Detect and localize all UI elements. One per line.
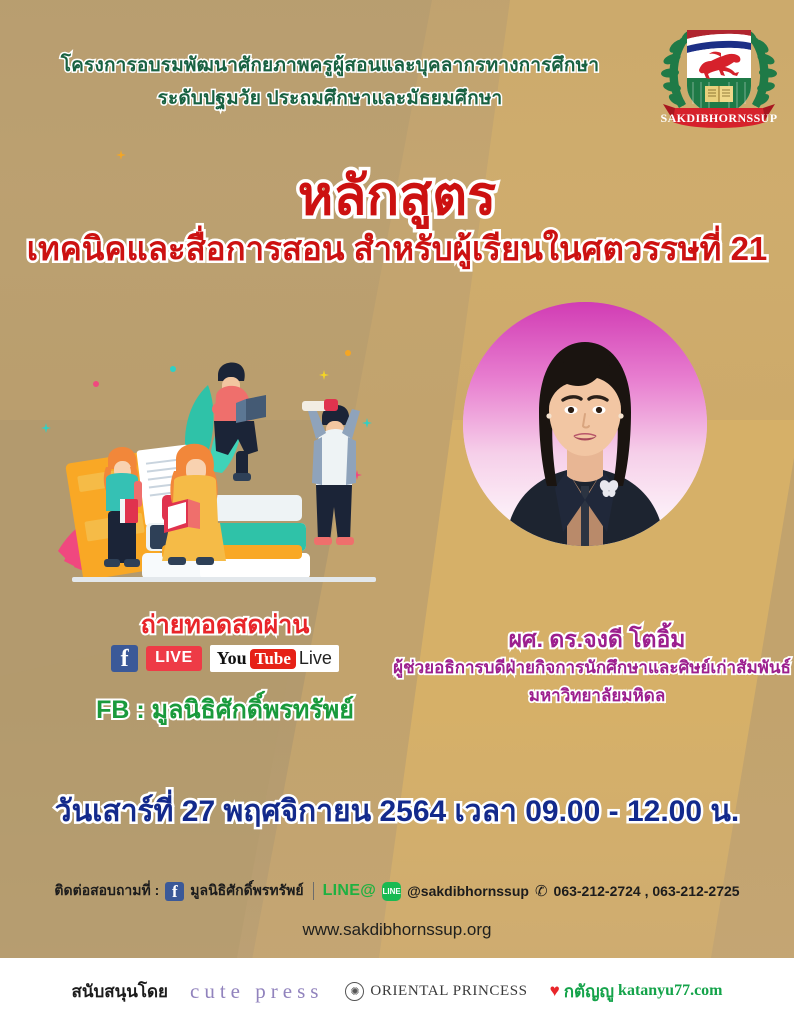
facebook-page-name[interactable]: FB : มูลนิธิศักดิ์พรทรัพย์ [60,690,390,730]
sponsor-label: สนับสนุนโดย [71,978,168,1005]
poster-canvas: โครงการอบรมพัฒนาศักยภาพครูผู้สอนและบุคลา… [0,0,794,1024]
sakdibhornssup-crest-logo: SAKDIBHORNSSUP [655,12,783,138]
katanyu-thai-label: กตัญญู [564,978,614,1005]
youtube-tube-icon: Tube [250,649,296,669]
speaker-organization: มหาวิทยาลัยมหิดล [400,682,794,709]
line-label: LINE@ [323,882,377,900]
contact-row: ติดต่อสอบถามที่ : f มูลนิธิศักดิ์พรทรัพย… [0,880,794,902]
course-subtitle: เทคนิคและสื่อการสอน สำหรับผู้เรียนในศตวร… [0,222,794,275]
sponsor-cute-press-logo: cute press [190,979,323,1004]
crest-banner-text: SAKDIBHORNSSUP [661,111,778,125]
heart-icon: ♥ [550,981,560,1001]
youtube-live-badge[interactable]: You Tube Live [210,645,339,672]
facebook-icon[interactable]: f [111,645,138,672]
speaker-portrait [463,302,707,546]
divider [313,882,314,900]
live-broadcast-heading: ถ่ายทอดสดผ่าน [60,605,390,645]
oriental-princess-label: ORIENTAL PRINCESS [370,983,527,1000]
katanyu-url: katanyu77.com [618,982,722,1000]
youtube-you-text: You [217,648,247,669]
sponsor-oriental-princess: ✺ ORIENTAL PRINCESS [345,982,527,1001]
speaker-role: ผู้ช่วยอธิการบดีฝ่ายกิจการนักศึกษาและศิษ… [390,654,794,681]
students-books-illustration [50,355,400,595]
sponsor-katanyu: ♥ กตัญญู katanyu77.com [550,978,723,1005]
phone-icon: ✆ [535,882,548,900]
contact-line-id[interactable]: @sakdibhornssup [407,883,529,899]
website-url[interactable]: www.sakdibhornssup.org [0,920,794,940]
program-title-line-1: โครงการอบรมพัฒนาศักยภาพครูผู้สอนและบุคลา… [0,50,660,80]
line-icon[interactable]: LINE [382,882,401,901]
youtube-live-text: Live [299,648,332,669]
live-platform-badges: f LIVE You Tube Live [60,645,390,672]
facebook-live-badge[interactable]: LIVE [146,646,202,671]
contact-facebook-page[interactable]: มูลนิธิศักดิ์พรทรัพย์ [190,880,303,902]
facebook-icon[interactable]: f [165,882,184,901]
contact-label: ติดต่อสอบถามที่ : [54,880,159,902]
line-icon-text: LINE [383,887,401,896]
event-date-time: วันเสาร์ที่ 27 พฤศจิกายน 2564 เวลา 09.00… [0,788,794,835]
speaker-name: ผศ. ดร.จงดี โตอิ้ม [400,622,794,658]
oriental-princess-icon: ✺ [345,982,364,1001]
sponsor-bar: สนับสนุนโดย cute press ✺ ORIENTAL PRINCE… [0,958,794,1024]
program-title-line-2: ระดับปฐมวัย ประถมศึกษาและมัธยมศึกษา [0,83,660,113]
contact-phone-numbers: 063-212-2724 , 063-212-2725 [554,883,740,899]
